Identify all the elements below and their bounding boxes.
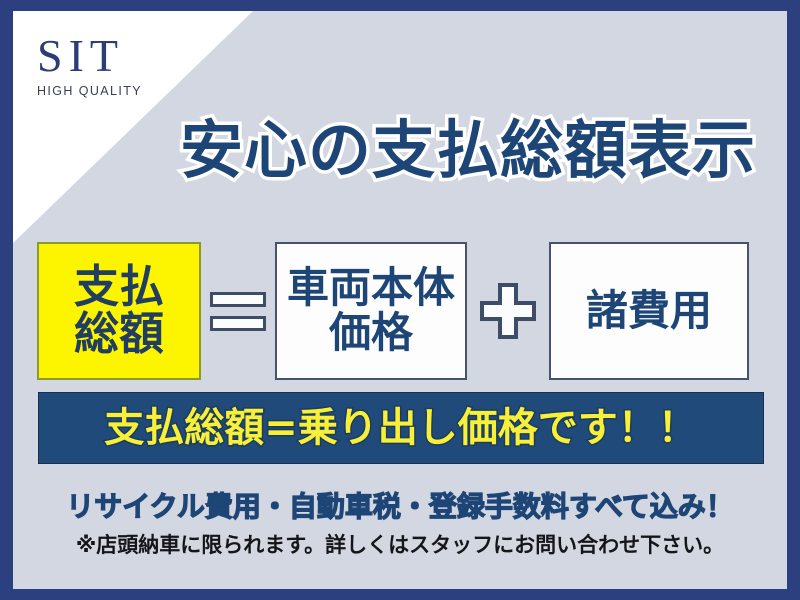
logo-wordmark: SIT: [37, 33, 227, 79]
disclaimer-note: ※店頭納車に限られます。詳しくはスタッフにお問い合わせ下さい。: [13, 535, 787, 556]
poster-banner: SIT HIGH QUALITY 安心の支払総額表示 支払 総額 車両本体 価格: [0, 0, 800, 600]
inclusions-note: リサイクル費用・自動車税・登録手数料すべて込み！: [13, 493, 787, 521]
additional-fees-box: 諸費用: [549, 242, 749, 380]
poster-inner-field: SIT HIGH QUALITY 安心の支払総額表示 支払 総額 車両本体 価格: [13, 11, 787, 589]
page-title: 安心の支払総額表示: [143, 119, 787, 182]
price-formula: 支払 総額 車両本体 価格 諸費用: [37, 239, 787, 383]
equals-bar-top: [210, 292, 266, 307]
highlight-banner: 支払総額=乗り出し価格です！！: [38, 392, 764, 464]
equals-icon: [201, 292, 275, 331]
logo-tagline: HIGH QUALITY: [37, 84, 227, 98]
brand-logo: SIT HIGH QUALITY: [37, 33, 227, 98]
vehicle-base-price-line1: 車両本体: [287, 266, 455, 311]
plus-icon: [467, 281, 549, 341]
highlight-banner-text: 支払総額=乗り出し価格です！！: [104, 408, 698, 448]
total-payment-line2: 総額: [74, 311, 164, 358]
total-payment-box: 支払 総額: [37, 242, 201, 380]
equals-bar-bottom: [210, 316, 266, 331]
vehicle-base-price-line2: 価格: [329, 311, 413, 356]
additional-fees-line1: 諸費用: [586, 289, 712, 334]
vehicle-base-price-box: 車両本体 価格: [275, 242, 467, 380]
total-payment-line1: 支払: [74, 264, 164, 311]
